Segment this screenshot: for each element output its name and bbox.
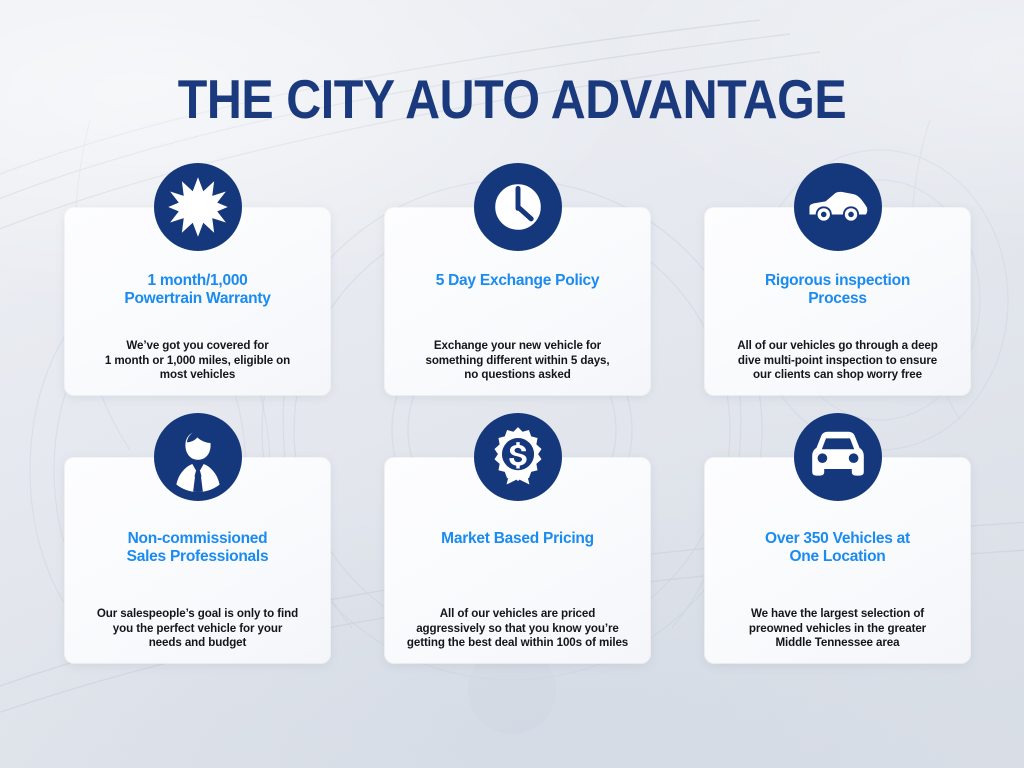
heading-line-2: Powertrain Warranty <box>124 290 270 307</box>
heading-line-1: 1 month/1,000 <box>147 272 247 289</box>
body-line-2: preowned vehicles in the greater <box>749 622 926 635</box>
page-title: THE CITY AUTO ADVANTAGE <box>61 68 962 130</box>
heading-line-1: 5 Day Exchange Policy <box>436 272 600 289</box>
heading-line-1: Market Based Pricing <box>441 530 594 547</box>
body-line-3: getting the best deal within 100s of mil… <box>407 636 628 649</box>
body-line-2: dive multi-point inspection to ensure <box>738 354 937 367</box>
car-front-icon <box>794 413 882 501</box>
body-line-2: something different within 5 days, <box>425 354 609 367</box>
advantage-card-body: Our salespeople’s goal is only to find y… <box>79 607 316 650</box>
advantage-card-exchange-policy[interactable]: 5 Day Exchange Policy Exchange your new … <box>385 208 650 395</box>
heading-line-2: One Location <box>789 548 885 565</box>
advantage-card-warranty[interactable]: 1 month/1,000 Powertrain Warranty We’ve … <box>65 208 330 395</box>
salesperson-icon <box>154 413 242 501</box>
advantage-card-body: All of our vehicles go through a deep di… <box>719 339 956 382</box>
advantage-card-heading: 1 month/1,000 Powertrain Warranty <box>79 272 316 307</box>
advantage-card-heading: 5 Day Exchange Policy <box>399 272 636 290</box>
body-line-3: needs and budget <box>149 636 247 649</box>
advantage-card-body: We’ve got you covered for 1 month or 1,0… <box>79 339 316 382</box>
body-line-1: We’ve got you covered for <box>126 339 268 352</box>
body-line-3: our clients can shop worry free <box>753 368 922 381</box>
advantage-card-grid: 1 month/1,000 Powertrain Warranty We’ve … <box>65 208 970 663</box>
advantage-card-heading: Rigorous inspection Process <box>719 272 956 307</box>
body-line-2: 1 month or 1,000 miles, eligible on <box>105 354 290 367</box>
body-line-1: All of our vehicles go through a deep <box>737 339 938 352</box>
heading-line-1: Rigorous inspection <box>765 272 910 289</box>
heading-line-1: Over 350 Vehicles at <box>765 530 910 547</box>
dollar-badge-icon <box>474 413 562 501</box>
advantage-card-sales-professionals[interactable]: Non-commissioned Sales Professionals Our… <box>65 458 330 663</box>
advantage-card-market-pricing[interactable]: Market Based Pricing All of our vehicles… <box>385 458 650 663</box>
heading-line-2: Process <box>808 290 867 307</box>
car-side-icon <box>794 163 882 251</box>
body-line-3: no questions asked <box>464 368 570 381</box>
body-line-2: aggressively so that you know you’re <box>416 622 619 635</box>
body-line-1: Our salespeople’s goal is only to find <box>97 607 298 620</box>
advantage-card-heading: Non-commissioned Sales Professionals <box>79 530 316 565</box>
body-line-1: We have the largest selection of <box>751 607 924 620</box>
body-line-2: you the perfect vehicle for your <box>113 622 282 635</box>
advantage-card-body: All of our vehicles are priced aggressiv… <box>399 607 636 650</box>
advantage-card-body: Exchange your new vehicle for something … <box>399 339 636 382</box>
advantage-card-heading: Over 350 Vehicles at One Location <box>719 530 956 565</box>
advantage-card-inspection[interactable]: Rigorous inspection Process All of our v… <box>705 208 970 395</box>
advantage-card-heading: Market Based Pricing <box>399 530 636 548</box>
heading-line-2: Sales Professionals <box>127 548 269 565</box>
body-line-1: Exchange your new vehicle for <box>434 339 601 352</box>
clock-icon <box>474 163 562 251</box>
body-line-3: most vehicles <box>160 368 235 381</box>
starburst-icon <box>154 163 242 251</box>
body-line-1: All of our vehicles are priced <box>440 607 596 620</box>
advantage-card-body: We have the largest selection of preowne… <box>719 607 956 650</box>
advantage-card-inventory[interactable]: Over 350 Vehicles at One Location We hav… <box>705 458 970 663</box>
body-line-3: Middle Tennessee area <box>776 636 900 649</box>
heading-line-1: Non-commissioned <box>128 530 268 547</box>
